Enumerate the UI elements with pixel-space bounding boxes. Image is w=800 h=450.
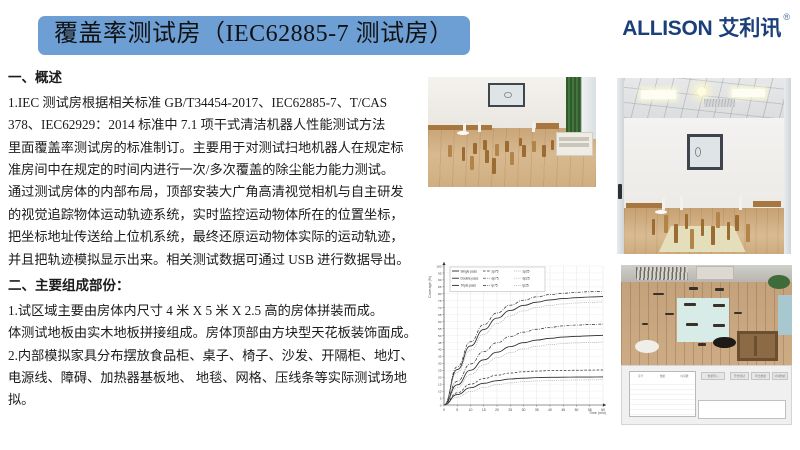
section-2-line: 1.试区域主要由房体内尺寸 4 米 X 5 米 X 2.5 高的房体拼装而成。 [8,300,422,321]
white-post [463,123,466,132]
data-table[interactable]: 序号 数据 时间戳 [629,371,697,417]
svg-text:Triple pass: Triple pass [461,284,477,288]
log-text-area[interactable] [698,400,786,420]
ceiling-light-panel [732,89,765,98]
table-header-row: 序号 数据 时间戳 [630,372,696,380]
table-column-header: 时间戳 [673,374,695,378]
logo-text-cn: 艾利讯 [718,18,781,39]
start-test-button[interactable]: 开始测试 [730,372,749,381]
svg-text:90: 90 [438,278,442,282]
svg-text:dp25: dp25 [523,277,530,281]
wooden-peg [510,152,514,165]
white-post [662,198,665,210]
photo-room-wide-artwork [617,78,791,254]
svg-text:55: 55 [438,327,442,331]
svg-text:Single pass: Single pass [461,269,478,273]
wooden-peg [542,145,546,157]
svg-text:5: 5 [440,396,442,400]
chart-y-axis-label: Coverage (%) [428,276,432,298]
slide-page: 覆盖率测试房（IEC62885-7 测试房） ALLISON 艾利讯 ® 一、概… [0,0,800,450]
wooden-peg [473,143,477,154]
photo-topdown-artwork [621,265,792,365]
table-body-rows [630,380,696,416]
table-column-header: 数据 [652,374,674,378]
door-jamb [617,78,624,254]
wooden-peg [448,145,452,157]
chart-coverage-vs-time: Coverage (%) Time (min) 0510152025303540… [428,258,608,433]
door-hinge [618,184,622,200]
skirting-board [428,125,492,131]
white-post [478,122,481,132]
svg-text:45: 45 [438,341,442,345]
wooden-peg [462,147,466,160]
svg-text:tp25: tp25 [523,284,529,288]
svg-text:40: 40 [548,408,552,412]
wooden-chair [737,331,778,361]
white-post [532,122,535,132]
section-2-line: 电源线、障碍、加热器基板地、 地毯、网格、压线条等实际测试场地 [8,367,422,388]
registered-trademark-icon: ® [783,13,790,22]
svg-text:45: 45 [561,408,565,412]
wall-picture-frame [488,83,525,107]
svg-text:100: 100 [436,264,441,268]
peg-marker [653,293,663,295]
svg-text:15: 15 [482,408,486,412]
photo-ceiling-camera-topdown [621,265,792,365]
clear-data-button[interactable]: 清除数据 [772,372,787,381]
wooden-peg [485,150,489,163]
svg-text:10: 10 [438,389,442,393]
wooden-peg [727,222,731,240]
wooden-peg [674,224,678,243]
svg-text:25: 25 [438,369,442,373]
photo-room-with-pegs-artwork [428,77,596,187]
svg-text:80: 80 [438,292,442,296]
wooden-peg [551,140,554,150]
section-1-line: 准房间中在规定的时间内进行一次/多次覆盖的除尘能力能力测试。 [8,159,422,180]
svg-text:30: 30 [522,408,526,412]
peg-marker [698,343,707,346]
photo-room-with-pegs [428,77,596,187]
peg-marker [715,288,724,291]
ceiling-light-panel [641,90,676,99]
svg-text:sp25: sp25 [523,269,530,273]
peg-marker [713,304,725,307]
logo-text-en: ALLISON [622,18,712,39]
svg-text:5: 5 [456,408,458,412]
wooden-peg [711,226,715,245]
svg-text:0: 0 [443,408,445,412]
door-jamb [784,78,791,254]
white-post [680,196,683,210]
svg-text:20: 20 [495,408,499,412]
svg-text:tp75: tp75 [492,284,498,288]
section-2-line: 体测试地板由实木地板拼接组成。房体顶部由方块型天花板装饰面成。 [8,322,422,343]
svg-text:sp75: sp75 [492,269,499,273]
chart-svg: 0510152025303540455055600510152025303540… [428,258,608,433]
import-data-button[interactable]: 数据导入 [701,372,725,380]
svg-text:20: 20 [438,376,442,380]
peg-marker [713,324,725,327]
svg-text:10: 10 [469,408,473,412]
svg-text:65: 65 [438,313,442,317]
white-post [739,196,742,210]
section-1-line: 把坐标地址传送给上位机系统，最终还原运动物体实际的运动轨迹， [8,226,422,247]
svg-text:0: 0 [440,403,442,407]
svg-text:95: 95 [438,271,442,275]
wooden-peg [495,144,499,156]
svg-text:35: 35 [535,408,539,412]
section-2-line: 拟。 [8,389,422,410]
skirting-board [753,201,781,207]
black-bowl-obstacle [713,337,735,348]
svg-text:85: 85 [438,285,442,289]
svg-text:25: 25 [508,408,512,412]
body-text-column: 一、概述 1.IEC 测试房根据相关标准 GB/T34454-2017、IEC6… [8,68,422,412]
export-data-button[interactable]: 导出数据 [751,372,770,381]
wall-picture-frame [687,134,724,169]
white-stool [635,340,659,353]
svg-text:35: 35 [438,355,442,359]
ceiling-air-vent [704,99,735,107]
svg-text:15: 15 [438,382,442,386]
svg-text:60: 60 [438,320,442,324]
wooden-peg [685,214,688,230]
svg-text:30: 30 [438,362,442,366]
wooden-peg [505,141,508,152]
ceiling-duct [696,266,734,280]
side-surface [778,295,792,335]
step-platform [556,132,593,156]
wooden-peg [652,219,655,235]
section-1-line: 378、IEC62929：2014 标准中 7.1 项干式清洁机器人性能测试方法 [8,114,422,135]
software-control-panel: 序号 数据 时间戳 数据导入 保存结果 开始测试 导出数据 清除数据 [621,365,792,425]
svg-text:Double pass: Double pass [461,277,479,281]
svg-text:dp75: dp75 [492,277,499,281]
software-panel-artwork: 序号 数据 时间戳 数据导入 保存结果 开始测试 导出数据 清除数据 [621,365,792,425]
wooden-peg [519,138,522,147]
wooden-peg [492,158,496,173]
peg-marker [686,323,698,326]
brand-logo: ALLISON 艾利讯 ® [622,18,790,39]
svg-text:70: 70 [438,306,442,310]
svg-text:50: 50 [438,334,442,338]
svg-text:40: 40 [438,348,442,352]
peg-marker [665,313,674,315]
wooden-peg [701,219,705,237]
peg-marker [642,323,649,325]
peg-marker [689,287,698,290]
peg-marker [734,312,743,314]
wooden-peg [483,140,486,150]
chart-x-axis-label: Time (min) [589,411,606,415]
photo-room-wide-view [617,78,791,254]
section-1-heading: 一、概述 [8,68,422,89]
section-2-line: 2.内部模拟家具分布摆放食品柜、桌子、椅子、沙发、开隔柜、地灯、 [8,345,422,366]
wooden-peg [664,215,668,233]
section-2-heading: 二、主要组成部份： [8,276,422,297]
section-1-line: 并且把轨迹模拟显示出来。相关测试数据可通过 USB 进行数据导出。 [8,249,422,270]
section-1-line: 里面覆盖率测试房的标准制订。主要用于对测试扫地机器人在规定标 [8,137,422,158]
skirting-board [536,123,560,129]
pendant-lamp [697,87,706,96]
wooden-peg [522,145,526,157]
potted-plant [768,275,790,289]
wooden-peg [716,212,719,228]
table-column-header: 序号 [630,374,652,378]
section-1-line: 1.IEC 测试房根据相关标准 GB/T34454-2017、IEC62885-… [8,92,422,113]
green-curtain [566,77,581,134]
wooden-peg [735,215,738,231]
wooden-peg [746,224,750,242]
door-panel [581,77,596,139]
svg-text:75: 75 [438,299,442,303]
svg-text:50: 50 [575,408,579,412]
section-1-line: 通过测试房体的内部布局，顶部安装大广角高清视觉相机与自主研发 [8,181,422,202]
wooden-peg [690,229,694,248]
wooden-peg [470,156,474,170]
section-1-line: 的视觉追踪物体运动轨迹系统，实时监控运动物体所在的位置坐标， [8,204,422,225]
page-title: 覆盖率测试房（IEC62885-7 测试房） [38,16,470,55]
ceiling-slats [636,267,687,280]
peg-marker [684,303,696,306]
wooden-peg [532,141,536,152]
